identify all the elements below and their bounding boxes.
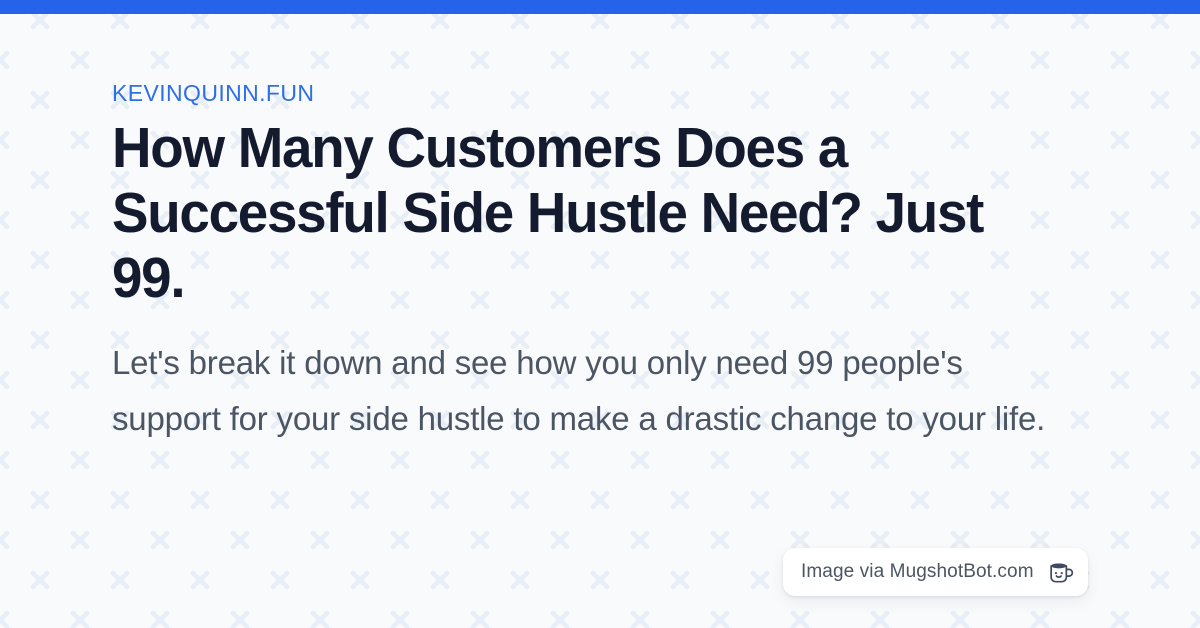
coffee-mug-smiley-icon [1046,557,1076,587]
open-graph-card: KEVINQUINN.FUN How Many Customers Does a… [0,0,1200,628]
site-name: KEVINQUINN.FUN [112,78,1102,108]
content-block: KEVINQUINN.FUN How Many Customers Does a… [112,78,1102,447]
page-title: How Many Customers Does a Successful Sid… [112,116,1062,311]
attribution-badge[interactable]: Image via MugshotBot.com [783,548,1088,596]
page-description: Let's break it down and see how you only… [112,335,1072,447]
attribution-badge-label: Image via MugshotBot.com [801,562,1034,582]
top-accent-bar [0,0,1200,14]
